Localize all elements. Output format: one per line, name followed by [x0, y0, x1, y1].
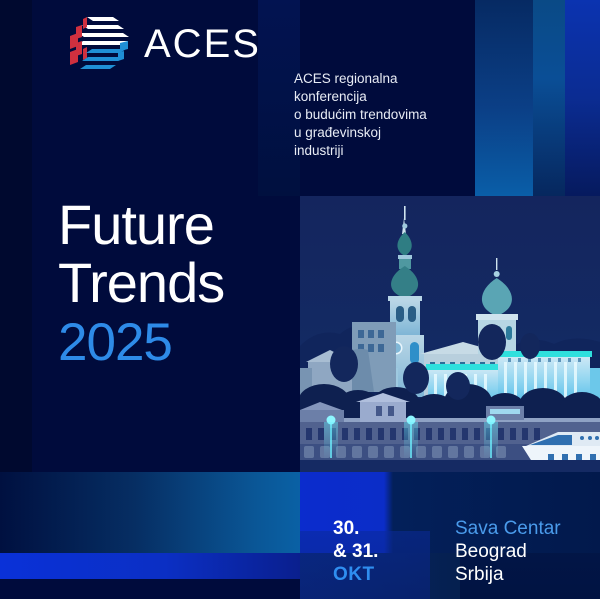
bg-horizontal-band-3 [0, 579, 300, 599]
bg-vertical-bar-3 [565, 0, 600, 196]
belgrade-skyline-illustration [300, 196, 600, 472]
location-country: Srbija [455, 563, 561, 586]
bg-horizontal-band-1 [0, 472, 300, 553]
kicker-line-1: ACES regionalna [294, 70, 474, 88]
bg-horizontal-band-2 [0, 553, 300, 579]
conference-description: ACES regionalna konferencija o budućim t… [294, 70, 474, 160]
kicker-line-4: u građevinskoj [294, 124, 474, 142]
brand-wordmark: ACES [144, 22, 261, 67]
kicker-line-2: konferencija [294, 88, 474, 106]
kicker-line-5: industriji [294, 142, 474, 160]
event-date: 30. & 31. OKT [333, 517, 378, 586]
page-title: Future Trends 2025 [58, 196, 308, 374]
title-line-2: Trends [58, 254, 308, 312]
date-day-2: & 31. [333, 540, 378, 563]
location-city: Beograd [455, 540, 561, 563]
aces-cube-logo [56, 8, 136, 80]
brand-logo[interactable]: ACES [56, 8, 256, 80]
bg-vertical-bar-2 [533, 0, 565, 196]
event-location: Sava Centar Beograd Srbija [455, 517, 561, 586]
title-line-1: Future [58, 196, 308, 254]
poster-canvas: ACES ACES regionalna konferencija o budu… [0, 0, 600, 599]
title-year: 2025 [58, 312, 308, 374]
bg-vertical-bar-1 [475, 0, 533, 196]
kicker-line-3: o budućim trendovima [294, 106, 474, 124]
location-venue: Sava Centar [455, 517, 561, 540]
date-month: OKT [333, 563, 378, 586]
date-day-1: 30. [333, 517, 378, 540]
